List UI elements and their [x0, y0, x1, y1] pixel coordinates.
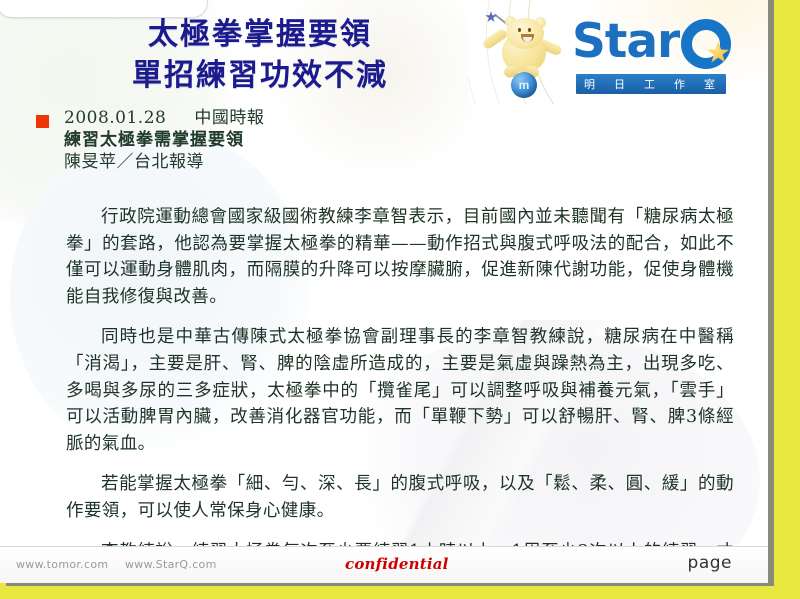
footer-url-tomor[interactable]: www.tomor.com	[16, 558, 108, 571]
studio-char-2: 工	[644, 76, 658, 92]
source-publication: 中國時報	[194, 108, 264, 128]
source-headline: 練習太極拳需掌握要領	[64, 130, 516, 152]
studio-char-3: 作	[674, 76, 688, 92]
page-number-label: page	[688, 553, 732, 573]
page-title-line-1: 太極拳掌握要領	[0, 14, 520, 55]
page-title-line-2: 單招練習功效不減	[0, 55, 520, 96]
wordmark-q-icon	[681, 19, 731, 69]
slide-footer: www.tomor.com www.StarQ.com confidential…	[0, 546, 768, 583]
article-paragraph-3: 若能掌握太極拳「細、勻、深、長」的腹式呼吸，以及「鬆、柔、圓、緩」的動作要領，可…	[66, 471, 734, 524]
slide-frame: m Star 明 日 工 作 室 太極拳掌握要領 單招練習功效不減 2008.0…	[0, 0, 800, 599]
confidential-label: confidential	[345, 555, 449, 573]
studio-name-bar: 明 日 工 作 室	[576, 74, 726, 94]
bear-eye-right	[528, 28, 531, 32]
studio-char-1: 日	[614, 76, 628, 92]
wordmark-star-text: Star	[572, 14, 679, 69]
page-title: 太極拳掌握要領 單招練習功效不減	[0, 14, 520, 97]
footer-url-starq[interactable]: www.StarQ.com	[125, 558, 217, 571]
article-paragraph-2: 同時也是中華古傳陳式太極拳協會副理事長的李章智教練說，糖尿病在中醫稱「消渴」，主…	[66, 324, 734, 457]
slide-page: m Star 明 日 工 作 室 太極拳掌握要領 單招練習功效不減 2008.0…	[0, 0, 768, 583]
starq-wordmark: Star	[572, 18, 731, 69]
source-block: 2008.01.28中國時報 練習太極拳需掌握要領 陳旻苹／台北報導	[36, 108, 516, 173]
bullet-square-icon	[36, 115, 49, 128]
source-date-row: 2008.01.28中國時報	[64, 108, 516, 130]
article-paragraph-1: 行政院運動總會國家級國術教練李章智表示，目前國內並未聽聞有「糖尿病太極拳」的套路…	[66, 204, 734, 310]
studio-char-0: 明	[584, 76, 598, 92]
studio-char-4: 室	[704, 76, 718, 92]
article-body: 行政院運動總會國家級國術教練李章智表示，目前國內並未聽聞有「糖尿病太極拳」的套路…	[66, 204, 734, 583]
source-byline: 陳旻苹／台北報導	[64, 152, 516, 174]
source-date: 2008.01.28	[64, 108, 166, 128]
